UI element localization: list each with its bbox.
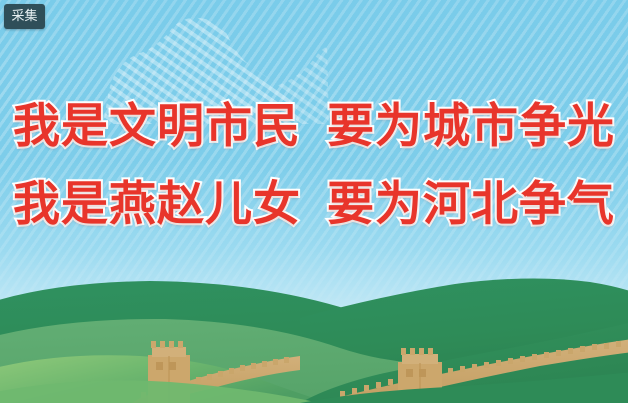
- slogan-line-2-right: 要为河北争气: [327, 177, 615, 232]
- slogan-line-1-right: 要为城市争光: [327, 99, 615, 154]
- slogan-line-2-left: 我是燕赵儿女: [13, 177, 301, 232]
- slogan-line-1: 我是文明市民要为城市争光: [0, 88, 628, 166]
- slogan-line-2: 我是燕赵儿女要为河北争气: [0, 166, 628, 244]
- capture-button[interactable]: 采集: [4, 4, 45, 29]
- banner-canvas: 我是文明市民要为城市争光 我是燕赵儿女要为河北争气: [0, 0, 628, 403]
- slogan-block: 我是文明市民要为城市争光 我是燕赵儿女要为河北争气: [0, 88, 628, 244]
- slogan-line-1-left: 我是文明市民: [13, 99, 301, 154]
